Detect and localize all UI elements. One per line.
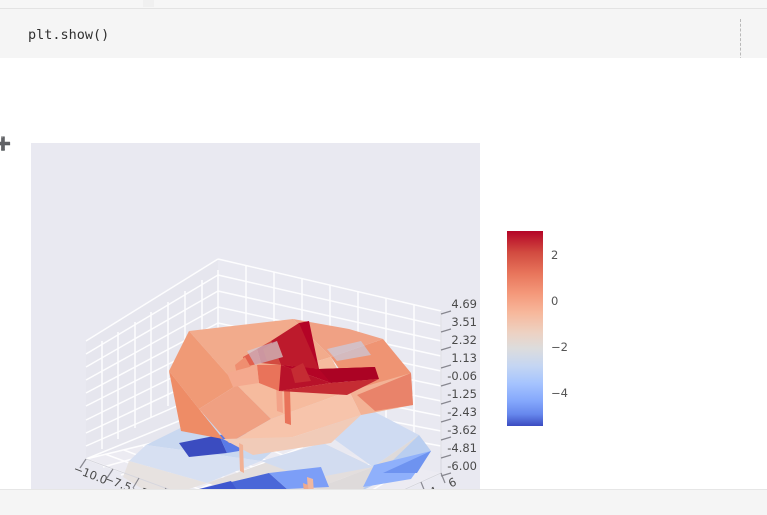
- cell-output-area: ➕: [0, 58, 767, 487]
- z-tick-label: 4.69: [431, 297, 477, 311]
- cell-code-text[interactable]: plt.show(): [28, 27, 109, 43]
- z-tick-label: -4.81: [431, 441, 477, 455]
- z-tick-label: -6.00: [431, 459, 477, 473]
- z-tick-label: -1.25: [431, 387, 477, 401]
- toolbar-strip: [0, 0, 767, 8]
- cell-output-prompt: ➕: [0, 137, 11, 152]
- code-cell[interactable]: ] plt.show(): [0, 8, 767, 59]
- colorbar-tick-label: −2: [551, 340, 568, 354]
- z-tick-label: -0.06: [431, 369, 477, 383]
- colorbar-gradient: [507, 231, 543, 426]
- next-code-cell[interactable]: ]: [0, 489, 767, 515]
- colorbar-tick-label: 0: [551, 294, 558, 308]
- z-tick-label: 3.51: [431, 315, 477, 329]
- colorbar-tick-label: 2: [551, 248, 558, 262]
- matplotlib-figure: 4.69 3.51 2.32 1.13 -0.06 -1.25 -2.43 -3…: [31, 143, 480, 515]
- toolbar-nub-icon: [143, 0, 154, 7]
- surface-plot-svg: [31, 143, 480, 515]
- colorbar-tick-label: −4: [551, 386, 568, 400]
- notebook-screen: ] plt.show() ➕: [0, 0, 767, 515]
- cell-input-prompt: ]: [0, 27, 22, 43]
- colorbar: 2 0 −2 −4: [507, 231, 587, 426]
- z-tick-label: 1.13: [431, 351, 477, 365]
- z-tick-label: 2.32: [431, 333, 477, 347]
- z-tick-label: -2.43: [431, 405, 477, 419]
- z-tick-label: -3.62: [431, 423, 477, 437]
